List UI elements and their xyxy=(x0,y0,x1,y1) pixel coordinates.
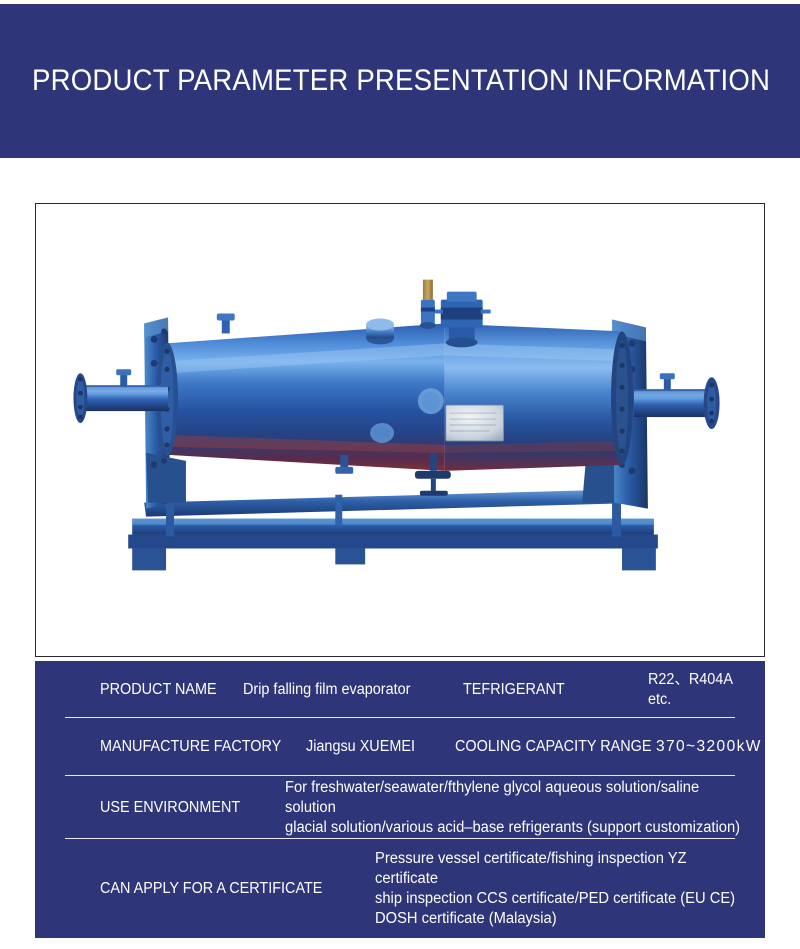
evaporator-illustration xyxy=(36,204,764,656)
spec-row-manufacture-factory: MANUFACTURE FACTORY Jiangsu XUEMEI COOLI… xyxy=(35,718,765,776)
spec-value-use-environment: For freshwater/seawater/fthylene glycol … xyxy=(285,778,741,838)
spec-row-use-environment: USE ENVIRONMENT For freshwater/seawater/… xyxy=(35,776,765,839)
spec-value-product-name: Drip falling film evaporator xyxy=(243,680,410,700)
spec-label-product-name: PRODUCT NAME xyxy=(100,680,217,700)
spec-label-use-environment: USE ENVIRONMENT xyxy=(100,798,240,818)
spec-value-certificate: Pressure vessel certificate/fishing insp… xyxy=(375,849,746,929)
spec-value-refrigerant: R22、R404A etc. xyxy=(648,670,757,710)
spec-value-manufacture-factory: Jiangsu XUEMEI xyxy=(306,737,415,757)
product-image-frame xyxy=(35,203,765,657)
spec-label-refrigerant: TEFRIGERANT xyxy=(463,680,565,700)
spec-label-cooling-capacity: COOLING CAPACITY RANGE xyxy=(455,737,652,757)
evaporator-shell xyxy=(156,323,633,470)
spec-row-certificate: CAN APPLY FOR A CERTIFICATE Pressure ves… xyxy=(35,839,765,938)
spec-table: PRODUCT NAME Drip falling film evaporato… xyxy=(35,661,765,938)
spec-value-cooling-capacity: 370~3200kW xyxy=(656,737,762,757)
product-photo xyxy=(36,204,764,656)
page-title: PRODUCT PARAMETER PRESENTATION INFORMATI… xyxy=(32,64,768,98)
spec-label-certificate: CAN APPLY FOR A CERTIFICATE xyxy=(100,879,322,899)
header-banner: PRODUCT PARAMETER PRESENTATION INFORMATI… xyxy=(0,4,800,158)
spec-label-manufacture-factory: MANUFACTURE FACTORY xyxy=(100,737,281,757)
nameplate xyxy=(446,405,504,441)
spec-row-product-name: PRODUCT NAME Drip falling film evaporato… xyxy=(35,661,765,718)
